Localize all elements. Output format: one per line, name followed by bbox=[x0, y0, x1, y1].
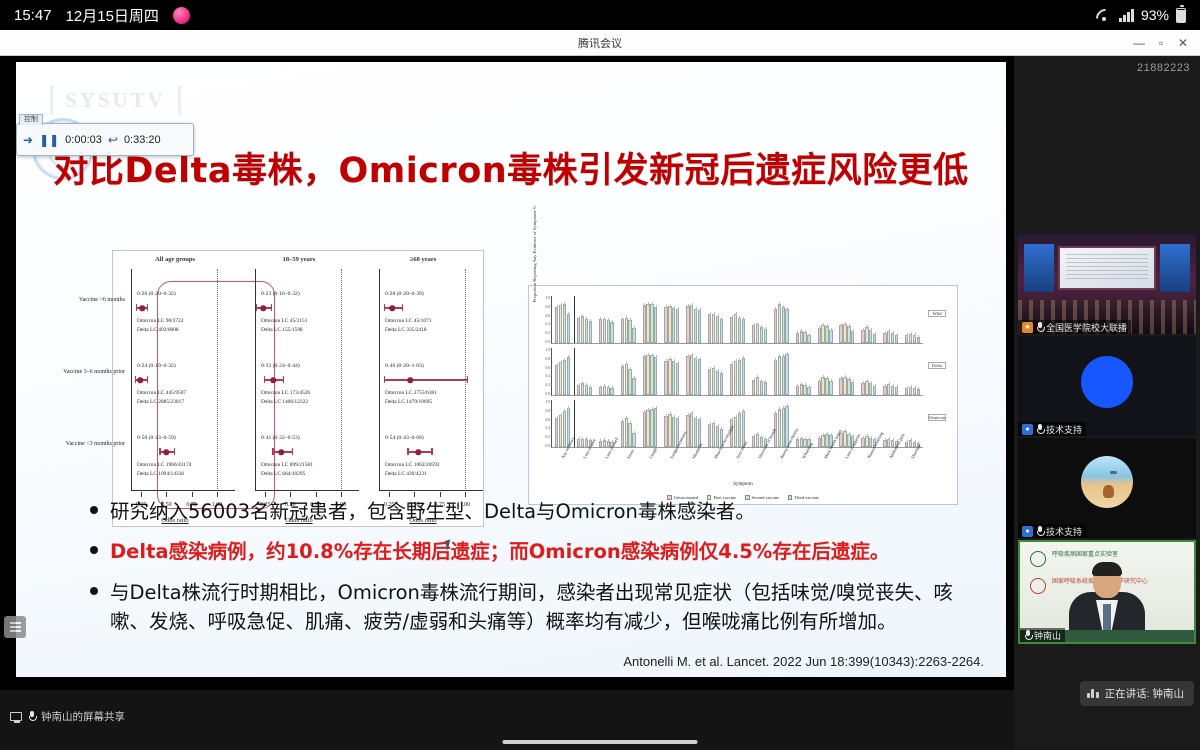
bar bbox=[905, 442, 908, 447]
bar-group bbox=[730, 314, 745, 343]
bar-group bbox=[861, 327, 876, 343]
bar-group bbox=[686, 305, 701, 343]
forest-row-note: Delta LC 493/6008 bbox=[137, 327, 179, 334]
speaker-hair bbox=[1092, 562, 1122, 576]
bar-chart-yticks: 1.00.80.60.40.20.0 bbox=[534, 348, 550, 396]
bar-chart-ytick: 1.0 bbox=[546, 296, 551, 300]
bar-group bbox=[796, 331, 811, 343]
bar bbox=[865, 436, 868, 447]
screen-share-label: 钟南山的屏幕共享 bbox=[41, 709, 125, 724]
bar bbox=[654, 307, 657, 343]
bar-chart-panel-tag: Delta bbox=[928, 362, 946, 369]
bar-group bbox=[577, 383, 592, 395]
bar-group bbox=[621, 318, 636, 343]
bar-chart-ytick: 0.8 bbox=[546, 305, 551, 309]
bar bbox=[821, 377, 824, 395]
bar-group bbox=[905, 334, 920, 343]
bar bbox=[883, 440, 886, 447]
forest-point-estimate bbox=[408, 377, 414, 383]
forest-row-label: Vaccine 3–6 months prior bbox=[55, 369, 129, 377]
bar-group bbox=[708, 314, 723, 343]
bar bbox=[905, 388, 908, 395]
bar bbox=[567, 357, 570, 395]
bar bbox=[734, 361, 737, 395]
bar bbox=[738, 318, 741, 343]
bar-chart-ytick: 0.8 bbox=[546, 409, 551, 413]
bar bbox=[698, 310, 701, 343]
bar-chart-ytick: 0.6 bbox=[546, 366, 551, 370]
bar-chart-ytick: 0.0 bbox=[546, 444, 551, 448]
bar-chart-ytick: 0.2 bbox=[546, 383, 551, 387]
forest-row-note: Omicron LC 899/21581 bbox=[261, 462, 313, 469]
bar bbox=[873, 334, 876, 343]
bar bbox=[851, 382, 854, 395]
bar bbox=[843, 324, 846, 343]
participant-tile-auditorium[interactable]: ★ 全国医学院校大联播 bbox=[1018, 234, 1196, 334]
bar-group bbox=[599, 319, 614, 343]
bar-group bbox=[883, 384, 898, 395]
next-icon[interactable]: ➜ bbox=[23, 133, 33, 147]
bar-chart-panel-tag: Wild bbox=[928, 310, 946, 317]
host-badge-icon: ★ bbox=[1022, 322, 1033, 333]
forest-estimate-text: 0·23 (0·16–0·32) bbox=[261, 291, 300, 297]
bar bbox=[800, 438, 803, 447]
bar bbox=[829, 330, 832, 343]
bar bbox=[577, 439, 580, 447]
bar bbox=[625, 364, 628, 395]
bar bbox=[752, 380, 755, 395]
bar bbox=[708, 424, 711, 447]
bar bbox=[686, 306, 689, 343]
symptom-bar-chart-figure: Proportion Reporting Any Evidence of Sym… bbox=[528, 285, 958, 505]
bar bbox=[632, 328, 635, 343]
bar bbox=[632, 378, 635, 395]
avatar bbox=[1081, 456, 1133, 508]
bar bbox=[829, 381, 832, 395]
forest-row-note: Omicron LC 2755/6181 bbox=[385, 390, 437, 397]
forest-row-note: Omicron LC 1062/20593 bbox=[385, 462, 440, 469]
bar-chart-panel: 1.00.80.60.40.20.0Delta bbox=[551, 348, 923, 396]
forest-point-estimate bbox=[389, 305, 395, 311]
bar bbox=[807, 335, 810, 343]
forest-panel: 18–59 years0.250.500.751.00Odds ratio0·2… bbox=[237, 251, 361, 528]
bar bbox=[909, 387, 912, 395]
forest-estimate-text: 0·54 (0·43–0·68) bbox=[385, 435, 424, 441]
bar bbox=[774, 309, 777, 343]
screen-share-icon bbox=[10, 712, 22, 721]
bar-chart-ytick: 1.0 bbox=[546, 348, 551, 352]
forest-estimate-text: 0·26 (0·20–0·32) bbox=[137, 291, 176, 297]
participant-label: ★ 全国医学院校大联播 bbox=[1018, 320, 1131, 334]
rewind-icon[interactable]: ↩ bbox=[108, 133, 118, 147]
bar bbox=[632, 433, 635, 447]
bar bbox=[905, 335, 908, 343]
bar bbox=[577, 385, 580, 395]
bar bbox=[581, 316, 584, 343]
bar bbox=[734, 314, 737, 343]
forest-row-note: Delta LC 1094/14336 bbox=[137, 471, 184, 478]
forest-x-axis bbox=[379, 490, 483, 491]
microphone-icon bbox=[28, 711, 35, 721]
bar bbox=[672, 361, 675, 395]
shared-screen-stage[interactable]: SYSUTV 对比Delta毒株，Omicron毒株引发新冠后遗症风险更低 Al… bbox=[0, 56, 1014, 690]
forest-panel-title: ≥60 years bbox=[361, 256, 485, 263]
bullet-item: Delta感染病例，约10.8%存在长期后遗症；而Omicron感染病例仅4.5… bbox=[90, 537, 970, 566]
bar-chart-ytick: 0.4 bbox=[546, 322, 551, 326]
bar bbox=[686, 356, 689, 395]
bar bbox=[625, 418, 628, 447]
bullet-item: 与Delta株流行时期相比，Omicron毒株流行期间，感染者出现常见症状（包括… bbox=[90, 578, 970, 637]
bar bbox=[712, 314, 715, 343]
bar-group bbox=[643, 304, 658, 343]
screen-share-status-bar: 钟南山的屏幕共享 bbox=[0, 704, 1014, 728]
forest-row-label: Vaccine >6 months bbox=[55, 297, 129, 305]
forest-panel: ≥60 years0.250.500.751.00Odds ratio0·28 … bbox=[361, 251, 485, 528]
bar bbox=[752, 436, 755, 447]
bar-chart-separator bbox=[574, 348, 575, 395]
bar-group bbox=[621, 364, 636, 395]
stage-menu-button[interactable] bbox=[4, 616, 26, 638]
bar bbox=[621, 319, 624, 343]
bullet-text: 研究纳入56003名新冠患者，包含野生型、Delta与Omicron毒株感染者。 bbox=[110, 497, 755, 526]
bar bbox=[756, 377, 759, 395]
bar bbox=[621, 366, 624, 395]
bar bbox=[861, 438, 864, 447]
forest-point-estimate bbox=[137, 377, 143, 383]
forest-y-axis bbox=[131, 269, 132, 491]
bar bbox=[851, 331, 854, 343]
bar-group bbox=[577, 316, 592, 343]
speaking-indicator: 正在讲话: 钟南山 bbox=[1080, 681, 1194, 706]
bar bbox=[803, 385, 806, 395]
bar-group bbox=[818, 325, 833, 343]
bar bbox=[778, 356, 781, 395]
bar bbox=[756, 434, 759, 447]
bar bbox=[563, 360, 566, 395]
bar bbox=[800, 331, 803, 343]
forest-row-note: Omicron LC 1966/43174 bbox=[137, 462, 192, 469]
close-button[interactable]: ✕ bbox=[1172, 32, 1194, 54]
participant-tile-active-speaker[interactable]: 呼吸疾病国家重点实验室 国家呼吸系统疾病临床医学研究中心 钟南山 bbox=[1018, 540, 1196, 644]
bar-group bbox=[555, 357, 570, 395]
bar-chart-ytick: 0.4 bbox=[546, 374, 551, 378]
bar bbox=[646, 304, 649, 343]
participant-label: 钟南山 bbox=[1020, 628, 1065, 642]
bar bbox=[668, 359, 671, 395]
bar-group bbox=[774, 304, 789, 343]
bar-chart-ytick: 0.8 bbox=[546, 357, 551, 361]
bar bbox=[869, 330, 872, 343]
bar bbox=[760, 327, 763, 343]
bar bbox=[694, 418, 697, 447]
bar bbox=[664, 361, 667, 395]
forest-row-note: Delta LC 1406/12322 bbox=[261, 399, 308, 406]
bar bbox=[895, 387, 898, 395]
bar-chart-ytick: 0.0 bbox=[546, 392, 551, 396]
window-title-bar: 腾讯会议 — ▫ ✕ bbox=[0, 30, 1200, 56]
bar-group bbox=[643, 408, 658, 447]
bar bbox=[650, 304, 653, 343]
mic-muted-icon bbox=[1024, 630, 1031, 640]
bar-chart-xtick: Fever bbox=[626, 448, 635, 459]
bar bbox=[782, 356, 785, 395]
bar bbox=[742, 358, 745, 395]
forest-panel: All age groups0.250.500.751.00Odds ratio… bbox=[113, 251, 237, 528]
forest-row-note: Omicron LC 445/9507 bbox=[137, 390, 186, 397]
bar bbox=[760, 381, 763, 395]
bar-chart-panel: 1.00.80.60.40.20.0Omicron bbox=[551, 400, 923, 448]
forest-row-note: Omicron LC 45/2151 bbox=[261, 318, 307, 325]
participant-tile-photo-avatar[interactable]: ● 技术支持 bbox=[1018, 438, 1196, 538]
bar bbox=[585, 319, 588, 343]
bar-chart-ytick: 0.2 bbox=[546, 435, 551, 439]
bar bbox=[668, 306, 671, 343]
forest-y-axis bbox=[255, 269, 256, 491]
forest-point-estimate bbox=[416, 449, 422, 455]
pause-icon[interactable]: ❚❚ bbox=[39, 133, 59, 147]
bar bbox=[559, 362, 562, 395]
bar bbox=[821, 435, 824, 447]
bar bbox=[913, 335, 916, 343]
bar bbox=[734, 417, 737, 447]
bar bbox=[577, 318, 580, 343]
bar bbox=[843, 431, 846, 447]
participant-tile-blue-avatar[interactable]: ● 技术支持 bbox=[1018, 336, 1196, 436]
bar bbox=[664, 307, 667, 343]
bar bbox=[716, 371, 719, 395]
forest-point-estimate bbox=[279, 449, 285, 455]
speaker-tie bbox=[1103, 604, 1111, 630]
bar bbox=[672, 308, 675, 343]
battery-percent: 93% bbox=[1141, 7, 1169, 23]
forest-estimate-text: 0·50 (0·43–0·59) bbox=[137, 435, 176, 441]
forest-row-note: Delta LC 1479/10695 bbox=[385, 399, 432, 406]
forest-estimate-text: 0·46 (0·20–1·03) bbox=[385, 363, 424, 369]
bar bbox=[818, 381, 821, 395]
bar-chart-separator bbox=[574, 296, 575, 343]
bar bbox=[672, 417, 675, 447]
bar bbox=[603, 319, 606, 343]
bar bbox=[708, 314, 711, 343]
bar bbox=[869, 383, 872, 395]
bar bbox=[643, 305, 646, 343]
bar-chart-ytick: 0.0 bbox=[546, 340, 551, 344]
bar bbox=[913, 388, 916, 395]
bar bbox=[847, 326, 850, 343]
bar bbox=[716, 316, 719, 343]
forest-panel-title: 18–59 years bbox=[237, 256, 361, 263]
bar bbox=[865, 381, 868, 395]
forest-row-note: Delta LC 439/4231 bbox=[385, 471, 427, 478]
bar bbox=[555, 307, 558, 343]
bar bbox=[825, 378, 828, 395]
bar bbox=[646, 355, 649, 395]
meeting-body: SYSUTV 对比Delta毒株，Omicron毒株引发新冠后遗症风险更低 Al… bbox=[0, 56, 1200, 750]
bar bbox=[555, 365, 558, 395]
bar bbox=[599, 441, 602, 447]
battery-icon bbox=[1176, 8, 1186, 23]
bar bbox=[607, 387, 610, 395]
media-current-time: 0:00:03 bbox=[65, 134, 102, 146]
bar bbox=[774, 360, 777, 395]
bar bbox=[818, 438, 821, 447]
bar bbox=[567, 314, 570, 343]
bar bbox=[843, 377, 846, 395]
bar-chart-xtick: Cough bbox=[648, 447, 658, 459]
bar bbox=[643, 356, 646, 395]
minimize-button[interactable]: — bbox=[1128, 32, 1150, 54]
participant-name: 全国医学院校大联播 bbox=[1046, 321, 1127, 334]
bar bbox=[603, 386, 606, 395]
bar bbox=[917, 337, 920, 343]
bar-group bbox=[839, 377, 854, 395]
bar bbox=[690, 355, 693, 395]
presentation-slide: SYSUTV 对比Delta毒株，Omicron毒株引发新冠后遗症风险更低 Al… bbox=[16, 62, 1006, 677]
lab-logo-icon bbox=[1030, 551, 1046, 567]
bar bbox=[847, 379, 850, 395]
bar bbox=[839, 378, 842, 395]
bar-group bbox=[752, 324, 767, 343]
mic-muted-icon bbox=[1036, 322, 1043, 332]
forest-row-note: Omicron LC 90/3722 bbox=[137, 318, 183, 325]
bar bbox=[883, 386, 886, 395]
lab-name-line1: 呼吸疾病国家重点实验室 bbox=[1052, 552, 1118, 560]
bar bbox=[917, 389, 920, 395]
figure-band: All age groups0.250.500.751.00Odds ratio… bbox=[16, 195, 1006, 485]
bar-chart-ytick: 1.0 bbox=[546, 400, 551, 404]
android-status-bar: 15:47 12月15日周四 93% bbox=[0, 0, 1200, 30]
bar-chart-ytick: 0.6 bbox=[546, 418, 551, 422]
bar bbox=[610, 322, 613, 343]
bar-group bbox=[774, 354, 789, 395]
bar bbox=[800, 384, 803, 395]
bar-group bbox=[861, 381, 876, 395]
sysutv-logo: SYSUTV bbox=[50, 86, 181, 115]
bar bbox=[756, 324, 759, 343]
mic-muted-icon bbox=[1036, 424, 1043, 434]
stage-panel-left bbox=[1024, 244, 1054, 292]
bar-group bbox=[708, 368, 723, 395]
bar bbox=[563, 411, 566, 447]
maximize-button[interactable]: ▫ bbox=[1150, 32, 1172, 54]
bar bbox=[796, 333, 799, 343]
home-indicator[interactable] bbox=[503, 740, 698, 744]
forest-confidence-interval bbox=[384, 379, 468, 381]
bar bbox=[778, 304, 781, 343]
bar bbox=[599, 319, 602, 343]
notification-dot-icon bbox=[173, 7, 190, 24]
status-date: 12月15日周四 bbox=[66, 5, 159, 26]
forest-estimate-text: 0·24 (0·19–0·32) bbox=[137, 363, 176, 369]
bar bbox=[742, 319, 745, 343]
bar bbox=[720, 319, 723, 343]
bullet-text: Delta感染病例，约10.8%存在长期后遗症；而Omicron感染病例仅4.5… bbox=[110, 537, 889, 566]
forest-estimate-text: 0·33 (0·24–0·44) bbox=[261, 363, 300, 369]
bar bbox=[654, 357, 657, 395]
bar bbox=[581, 383, 584, 395]
bar bbox=[628, 320, 631, 343]
bar bbox=[599, 387, 602, 395]
user-badge-icon: ● bbox=[1022, 424, 1033, 435]
speaking-label: 正在讲话: 钟南山 bbox=[1105, 686, 1184, 701]
media-overlay-tab: 控制 bbox=[19, 114, 43, 125]
auditorium-projection-screen bbox=[1058, 246, 1156, 290]
forest-estimate-text: 0·28 (0·20–0·39) bbox=[385, 291, 424, 297]
bar bbox=[694, 358, 697, 395]
bar bbox=[825, 326, 828, 343]
bar bbox=[730, 364, 733, 395]
bullet-item: 研究纳入56003名新冠患者，包含野生型、Delta与Omicron毒株感染者。 bbox=[90, 497, 970, 526]
bar bbox=[895, 335, 898, 343]
slide-citation: Antonelli M. et al. Lancet. 2022 Jun 18:… bbox=[623, 654, 984, 669]
bar-chart-ytick: 0.4 bbox=[546, 426, 551, 430]
center-logo-icon bbox=[1030, 578, 1046, 594]
bar bbox=[891, 386, 894, 395]
bar bbox=[782, 408, 785, 447]
bar bbox=[628, 423, 631, 447]
bar bbox=[807, 387, 810, 395]
bar bbox=[664, 416, 667, 447]
bar-group bbox=[664, 306, 679, 343]
status-time: 15:47 bbox=[14, 7, 52, 24]
bar-chart-ytick: 0.2 bbox=[546, 331, 551, 335]
media-player-overlay[interactable]: 控制 ➜ ❚❚ 0:00:03 ↩ 0:33:20 bbox=[16, 123, 194, 156]
bar-chart-ytick: 0.6 bbox=[546, 314, 551, 318]
wifi-icon bbox=[1095, 8, 1112, 22]
bar-group bbox=[555, 304, 570, 343]
bar-group bbox=[839, 324, 854, 343]
bar bbox=[738, 413, 741, 447]
forest-y-axis bbox=[379, 269, 380, 491]
bullet-dot-icon bbox=[90, 587, 98, 595]
slide-bullet-list: 研究纳入56003名新冠患者，包含野生型、Delta与Omicron毒株感染者。… bbox=[90, 497, 970, 647]
forest-null-line bbox=[341, 269, 342, 491]
bar bbox=[873, 386, 876, 395]
bar bbox=[839, 325, 842, 343]
forest-row-note: Omicron LC 173/4526 bbox=[261, 390, 310, 397]
media-total-time: 0:33:20 bbox=[124, 134, 161, 146]
bar bbox=[654, 408, 657, 447]
bullet-dot-icon bbox=[90, 506, 98, 514]
bullet-text: 与Delta株流行时期相比，Omicron毒株流行期间，感染者出现常见症状（包括… bbox=[110, 578, 970, 637]
forest-row-note: Omicron LC 45/1071 bbox=[385, 318, 431, 325]
bar-group bbox=[686, 355, 701, 395]
bar-group bbox=[818, 377, 833, 395]
bar bbox=[646, 410, 649, 447]
bar bbox=[690, 413, 693, 447]
bar bbox=[720, 373, 723, 395]
bar bbox=[555, 418, 558, 447]
forest-row-label: Vaccine <3 months prior bbox=[55, 441, 129, 449]
forest-point-estimate bbox=[260, 305, 266, 311]
bar-group bbox=[599, 386, 614, 395]
forest-point-estimate bbox=[270, 377, 276, 383]
forest-null-line bbox=[217, 269, 218, 491]
forest-row-note: Delta LC 664/10295 bbox=[261, 471, 305, 478]
bar bbox=[764, 382, 767, 395]
bar bbox=[563, 304, 566, 343]
bar bbox=[676, 363, 679, 395]
forest-point-estimate bbox=[139, 305, 145, 311]
bar bbox=[581, 439, 584, 447]
bar bbox=[559, 415, 562, 447]
bar bbox=[650, 409, 653, 447]
bar bbox=[887, 384, 890, 395]
bar bbox=[764, 329, 767, 343]
bar bbox=[782, 307, 785, 343]
bar-group bbox=[883, 331, 898, 343]
bar-group bbox=[796, 384, 811, 395]
